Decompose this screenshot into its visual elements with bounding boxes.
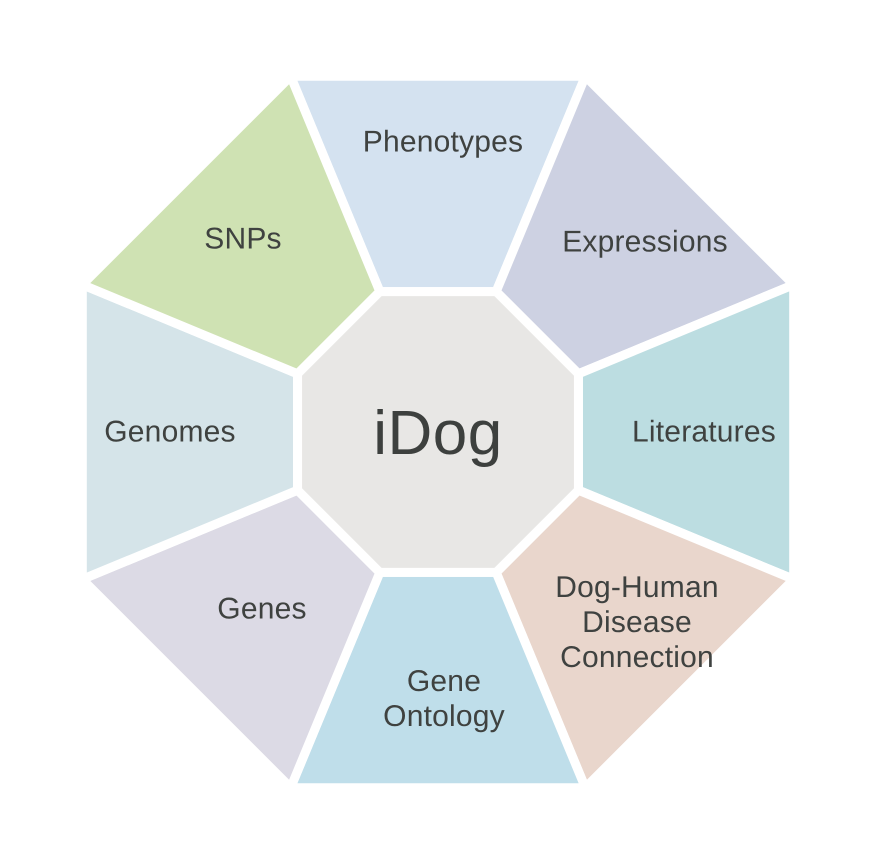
idog-octagon-diagram: iDog PhenotypesExpressionsLiteraturesDog… bbox=[0, 0, 877, 855]
hub-octagon-shape[interactable] bbox=[298, 292, 579, 573]
octagon-wheel-svg bbox=[0, 0, 877, 855]
